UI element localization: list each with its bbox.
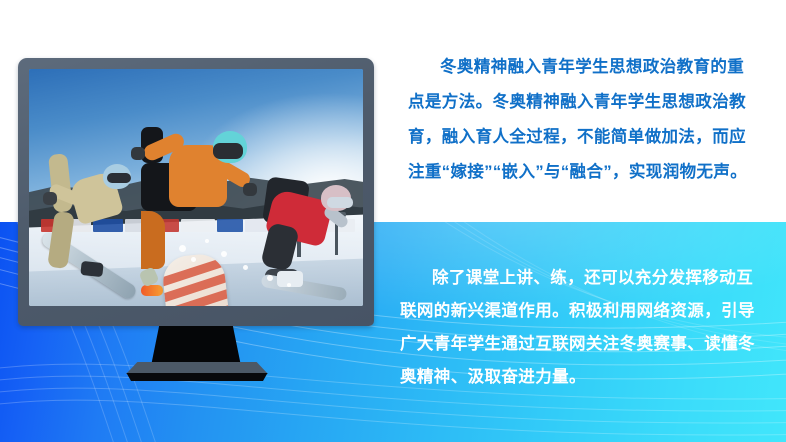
rider-center-goggle-lens bbox=[141, 285, 163, 296]
rider-center-jacket-shadow bbox=[141, 211, 165, 269]
snow-spray bbox=[243, 265, 248, 270]
monitor-stand-base bbox=[126, 362, 268, 374]
snow-spray bbox=[221, 251, 227, 257]
monitor-stand-base-edge bbox=[122, 373, 272, 381]
snowboard-center bbox=[161, 252, 231, 306]
monitor-stand-neck bbox=[151, 326, 241, 366]
rider-center-glove-left bbox=[131, 147, 145, 160]
presentation-slide: 冬奥精神融入青年学生思想政治教育的重点是方法。冬奥精神融入青年学生思想政治教育，… bbox=[0, 0, 786, 442]
snowboarder-right bbox=[265, 179, 363, 306]
rider-right-goggles bbox=[327, 197, 353, 208]
snow-spray bbox=[267, 275, 273, 281]
snowboarder-center bbox=[141, 127, 271, 302]
snow-spray bbox=[179, 245, 186, 252]
rider-center-goggles bbox=[213, 143, 243, 159]
snow-spray bbox=[205, 239, 209, 243]
snowboarding-photo bbox=[29, 69, 363, 306]
desktop-monitor bbox=[18, 58, 374, 326]
rider-center-glove-right bbox=[243, 183, 257, 196]
snowboard-right bbox=[261, 274, 348, 302]
paragraph-bottom: 除了课堂上讲、练，还可以充分发挥移动互联网的新兴渠道作用。积极利用网络资源，引导… bbox=[400, 262, 766, 394]
rider-left-goggles bbox=[107, 173, 131, 183]
rider-left-boot bbox=[80, 261, 103, 277]
snow-spray bbox=[191, 257, 196, 262]
monitor-screen bbox=[29, 69, 363, 306]
paragraph-top: 冬奥精神融入青年学生思想政治教育的重点是方法。冬奥精神融入青年学生思想政治教育，… bbox=[408, 50, 760, 190]
snow-spray bbox=[287, 283, 291, 287]
rider-left-glove bbox=[43, 192, 57, 205]
